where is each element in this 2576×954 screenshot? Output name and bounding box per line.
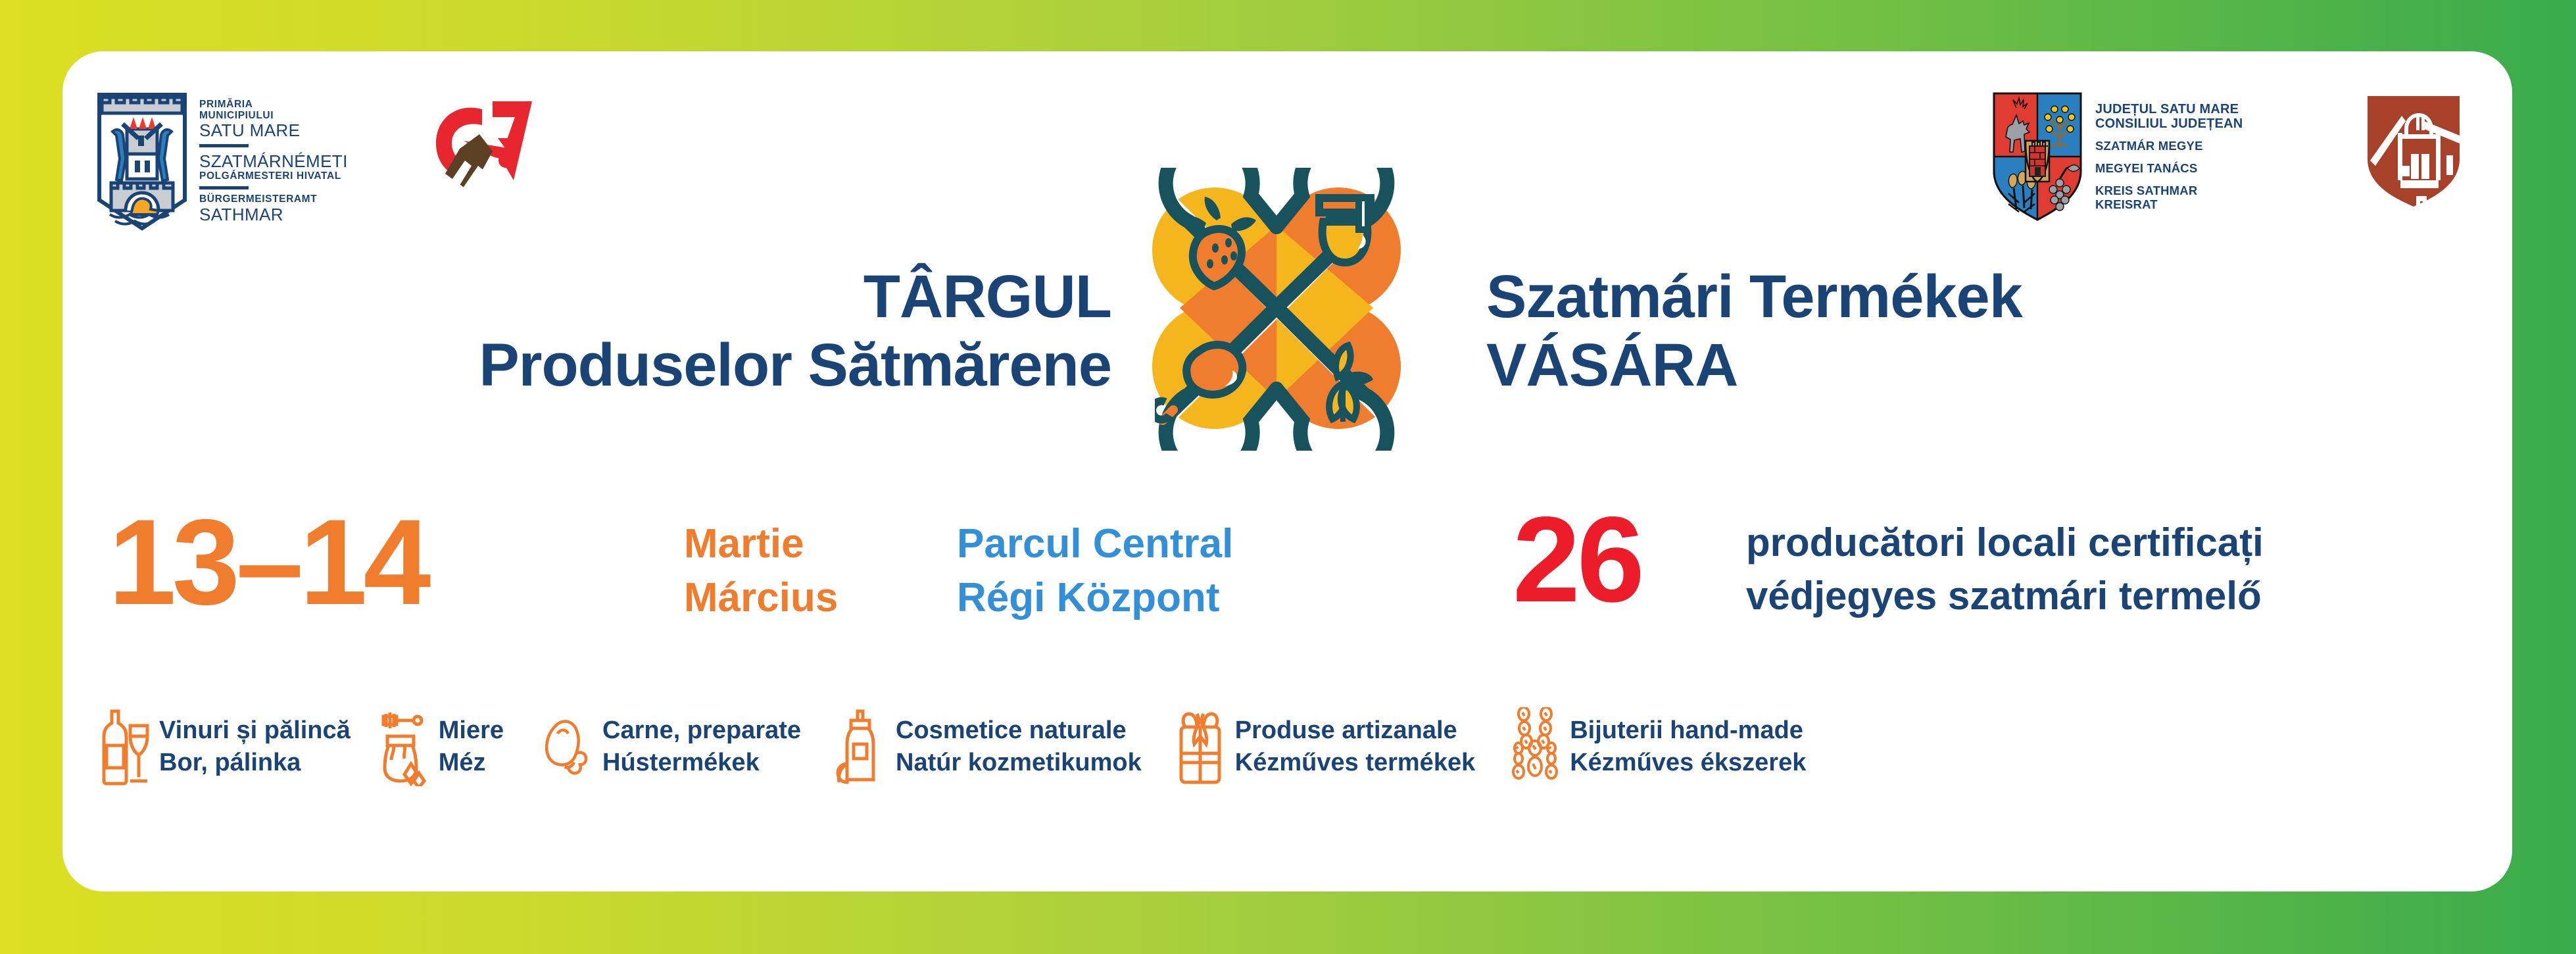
category-jewelry-ro: Bijuterii hand-made	[1570, 715, 1806, 747]
category-cosmetics-hu: Natúr kozmetikumok	[896, 747, 1142, 779]
product-category-strip: Vinuri și pălincă Bor, pálinka Miere	[99, 707, 2506, 786]
category-item-wine: Vinuri și pălincă Bor, pálinka	[99, 707, 351, 786]
county-logo-line3: SZATMÁR MEGYE	[2095, 139, 2243, 153]
title-hu-line1: Szatmári Termékek	[1486, 266, 2022, 328]
category-cosmetics-ro: Cosmetice naturale	[896, 715, 1142, 747]
city-coat-of-arms-icon	[95, 91, 189, 232]
event-location: Parcul Central Régi Központ	[957, 517, 1233, 626]
city-logo-text: PRIMĂRIA MUNICIPIULUI SATU MARE SZATMÁRN…	[199, 99, 348, 224]
cosmetic-bottle-leaf-icon	[835, 707, 887, 786]
category-item-meat: Carne, preparate Hústermékek	[542, 707, 801, 786]
satu-mare-city-hall-logo: PRIMĂRIA MUNICIPIULUI SATU MARE SZATMÁRN…	[95, 91, 348, 232]
county-logo-line4: MEGYEI TANÁCS	[2095, 162, 2243, 176]
county-logo-text: JUDEȚUL SATU MARE CONSILIUL JUDEȚEAN SZA…	[2095, 102, 2243, 212]
event-month-hu: Március	[684, 571, 838, 625]
category-label-honey: Miere Méz	[439, 715, 504, 778]
city-logo-divider-1	[199, 144, 249, 147]
county-logo-line5: KREIS SATHMAR	[2095, 184, 2243, 198]
category-label-artisan: Produse artizanale Kézműves termékek	[1235, 715, 1475, 778]
title-hungarian: Szatmári Termékek VÁSÁRA	[1486, 266, 2022, 397]
producer-count-text: producători locali certificați védjegyes…	[1746, 516, 2264, 622]
event-location-hu: Régi Központ	[957, 571, 1233, 625]
chicken-drumstick-icon	[542, 707, 593, 786]
title-hu-line2: VÁSÁRA	[1486, 335, 2022, 397]
city-logo-divider-2	[199, 186, 249, 189]
producer-count-hu: védjegyes szatmári termelő	[1746, 569, 2264, 622]
category-item-honey: Miere Méz	[378, 707, 504, 786]
event-month-ro: Martie	[684, 517, 838, 571]
event-dates: 13–14	[109, 507, 427, 618]
category-honey-ro: Miere	[439, 715, 504, 747]
city-logo-line1: PRIMĂRIA	[199, 99, 348, 111]
event-location-ro: Parcul Central	[957, 517, 1233, 571]
bead-jewelry-icon	[1509, 707, 1561, 786]
category-meat-hu: Hústermékek	[602, 747, 801, 779]
category-item-cosmetics: Cosmetice naturale Natúr kozmetikumok	[835, 707, 1142, 786]
poster-canvas: PRIMĂRIA MUNICIPIULUI SATU MARE SZATMÁRN…	[0, 0, 2576, 954]
honey-jar-dipper-icon	[378, 707, 429, 786]
category-label-meat: Carne, preparate Hústermékek	[602, 715, 801, 778]
city-logo-line5: POLGÁRMESTERI HIVATAL	[199, 171, 348, 182]
title-ro-line1: TÂRGUL	[0, 266, 1111, 328]
producer-count-ro: producători locali certificați	[1746, 516, 2264, 569]
gift-box-ribbon-icon	[1175, 707, 1226, 786]
county-logo-line2: CONSILIUL JUDEȚEAN	[2095, 116, 2243, 131]
category-label-jewelry: Bijuterii hand-made Kézműves ékszerek	[1570, 715, 1806, 778]
city-logo-line4: SZATMÁRNÉMETI	[199, 152, 348, 170]
county-logo-line6: KREISRAT	[2095, 198, 2243, 212]
satu-mare-county-council-logo: JUDEȚUL SATU MARE CONSILIUL JUDEȚEAN SZA…	[1991, 91, 2243, 222]
category-artisan-ro: Produse artizanale	[1235, 715, 1475, 747]
category-label-wine: Vinuri și pălincă Bor, pálinka	[159, 715, 351, 778]
city-logo-line7: SATHMAR	[199, 205, 348, 224]
wine-bottle-glass-icon	[99, 707, 150, 786]
szatmari-termekek-heart-emblem	[1129, 168, 1424, 451]
title-ro-line2: Produselor Sătmărene	[0, 335, 1111, 397]
event-month: Martie Március	[684, 517, 838, 626]
county-coat-of-arms-icon	[1991, 91, 2083, 222]
city-logo-line6: BÜRGERMEISTERAMT	[199, 194, 348, 205]
category-artisan-hu: Kézműves termékek	[1235, 747, 1475, 779]
category-item-artisan: Produse artizanale Kézműves termékek	[1175, 707, 1475, 786]
category-honey-hu: Méz	[439, 747, 504, 779]
city-logo-line2: MUNICIPIULUI	[199, 111, 348, 122]
producer-count: 26	[1513, 504, 1641, 616]
city-logo-line3: SATU MARE	[199, 121, 348, 139]
museum-house-logo	[2361, 92, 2466, 217]
category-label-cosmetics: Cosmetice naturale Natúr kozmetikumok	[896, 715, 1142, 778]
county-logo-line1: JUDEȚUL SATU MARE	[2095, 102, 2243, 116]
title-romanian: TÂRGUL Produselor Sătmărene	[0, 266, 1111, 397]
category-meat-ro: Carne, preparate	[602, 715, 801, 747]
cg7-logo	[424, 97, 537, 196]
category-wine-ro: Vinuri și pălincă	[159, 715, 351, 747]
category-jewelry-hu: Kézműves ékszerek	[1570, 747, 1806, 779]
category-wine-hu: Bor, pálinka	[159, 747, 351, 779]
event-info-band: 13–14 Martie Március Parcul Central Régi…	[0, 507, 2576, 678]
category-item-jewelry: Bijuterii hand-made Kézműves ékszerek	[1509, 707, 1806, 786]
